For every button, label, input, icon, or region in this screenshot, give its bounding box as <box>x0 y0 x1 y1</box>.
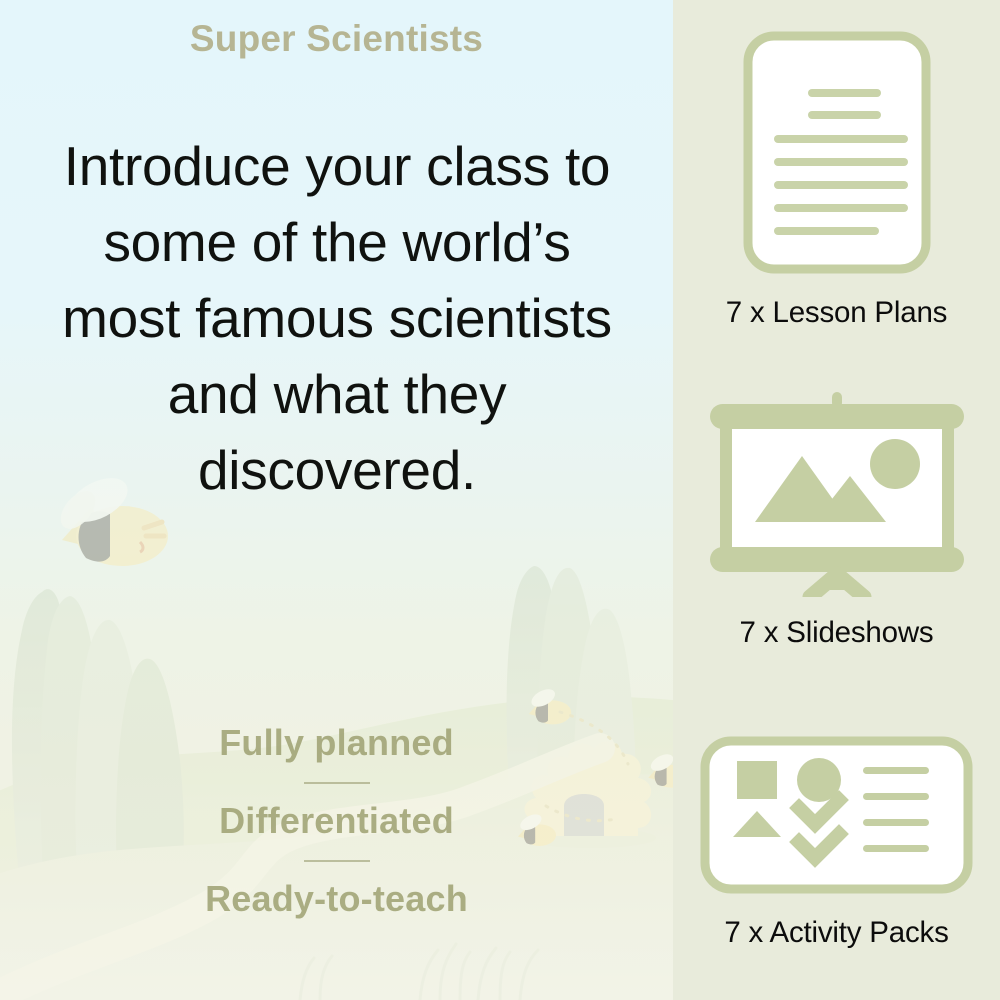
product-item-activity-packs: 7 x Activity Packs <box>673 735 1000 950</box>
product-label-lesson-plans: 7 x Lesson Plans <box>673 296 1000 330</box>
feature-ready-to-teach: Ready-to-teach <box>0 874 673 924</box>
product-label-activity-packs: 7 x Activity Packs <box>673 916 1000 950</box>
product-item-lesson-plans: 7 x Lesson Plans <box>673 30 1000 330</box>
product-item-slideshows: 7 x Slideshows <box>673 392 1000 650</box>
headline-line: some of the world’s <box>42 204 632 280</box>
headline: Introduce your class to some of the worl… <box>42 128 632 508</box>
product-label-slideshows: 7 x Slideshows <box>673 616 1000 650</box>
feature-differentiated: Differentiated <box>0 796 673 846</box>
feature-divider <box>304 860 370 862</box>
feature-list: Fully planned Differentiated Ready-to-te… <box>0 718 673 924</box>
page-title: Super Scientists <box>0 18 673 60</box>
presentation-screen-icon <box>673 392 1000 602</box>
feature-fully-planned: Fully planned <box>0 718 673 768</box>
document-icon <box>673 30 1000 280</box>
headline-line: most famous scientists <box>42 280 632 356</box>
product-card: Super Scientists Introduce your class to… <box>0 0 1000 1000</box>
activity-card-icon <box>673 735 1000 900</box>
headline-line: discovered. <box>42 432 632 508</box>
left-panel: Super Scientists Introduce your class to… <box>0 0 673 1000</box>
headline-line: and what they <box>42 356 632 432</box>
right-panel: 7 x Lesson Plans <box>673 0 1000 1000</box>
feature-divider <box>304 782 370 784</box>
headline-line: Introduce your class to <box>42 128 632 204</box>
